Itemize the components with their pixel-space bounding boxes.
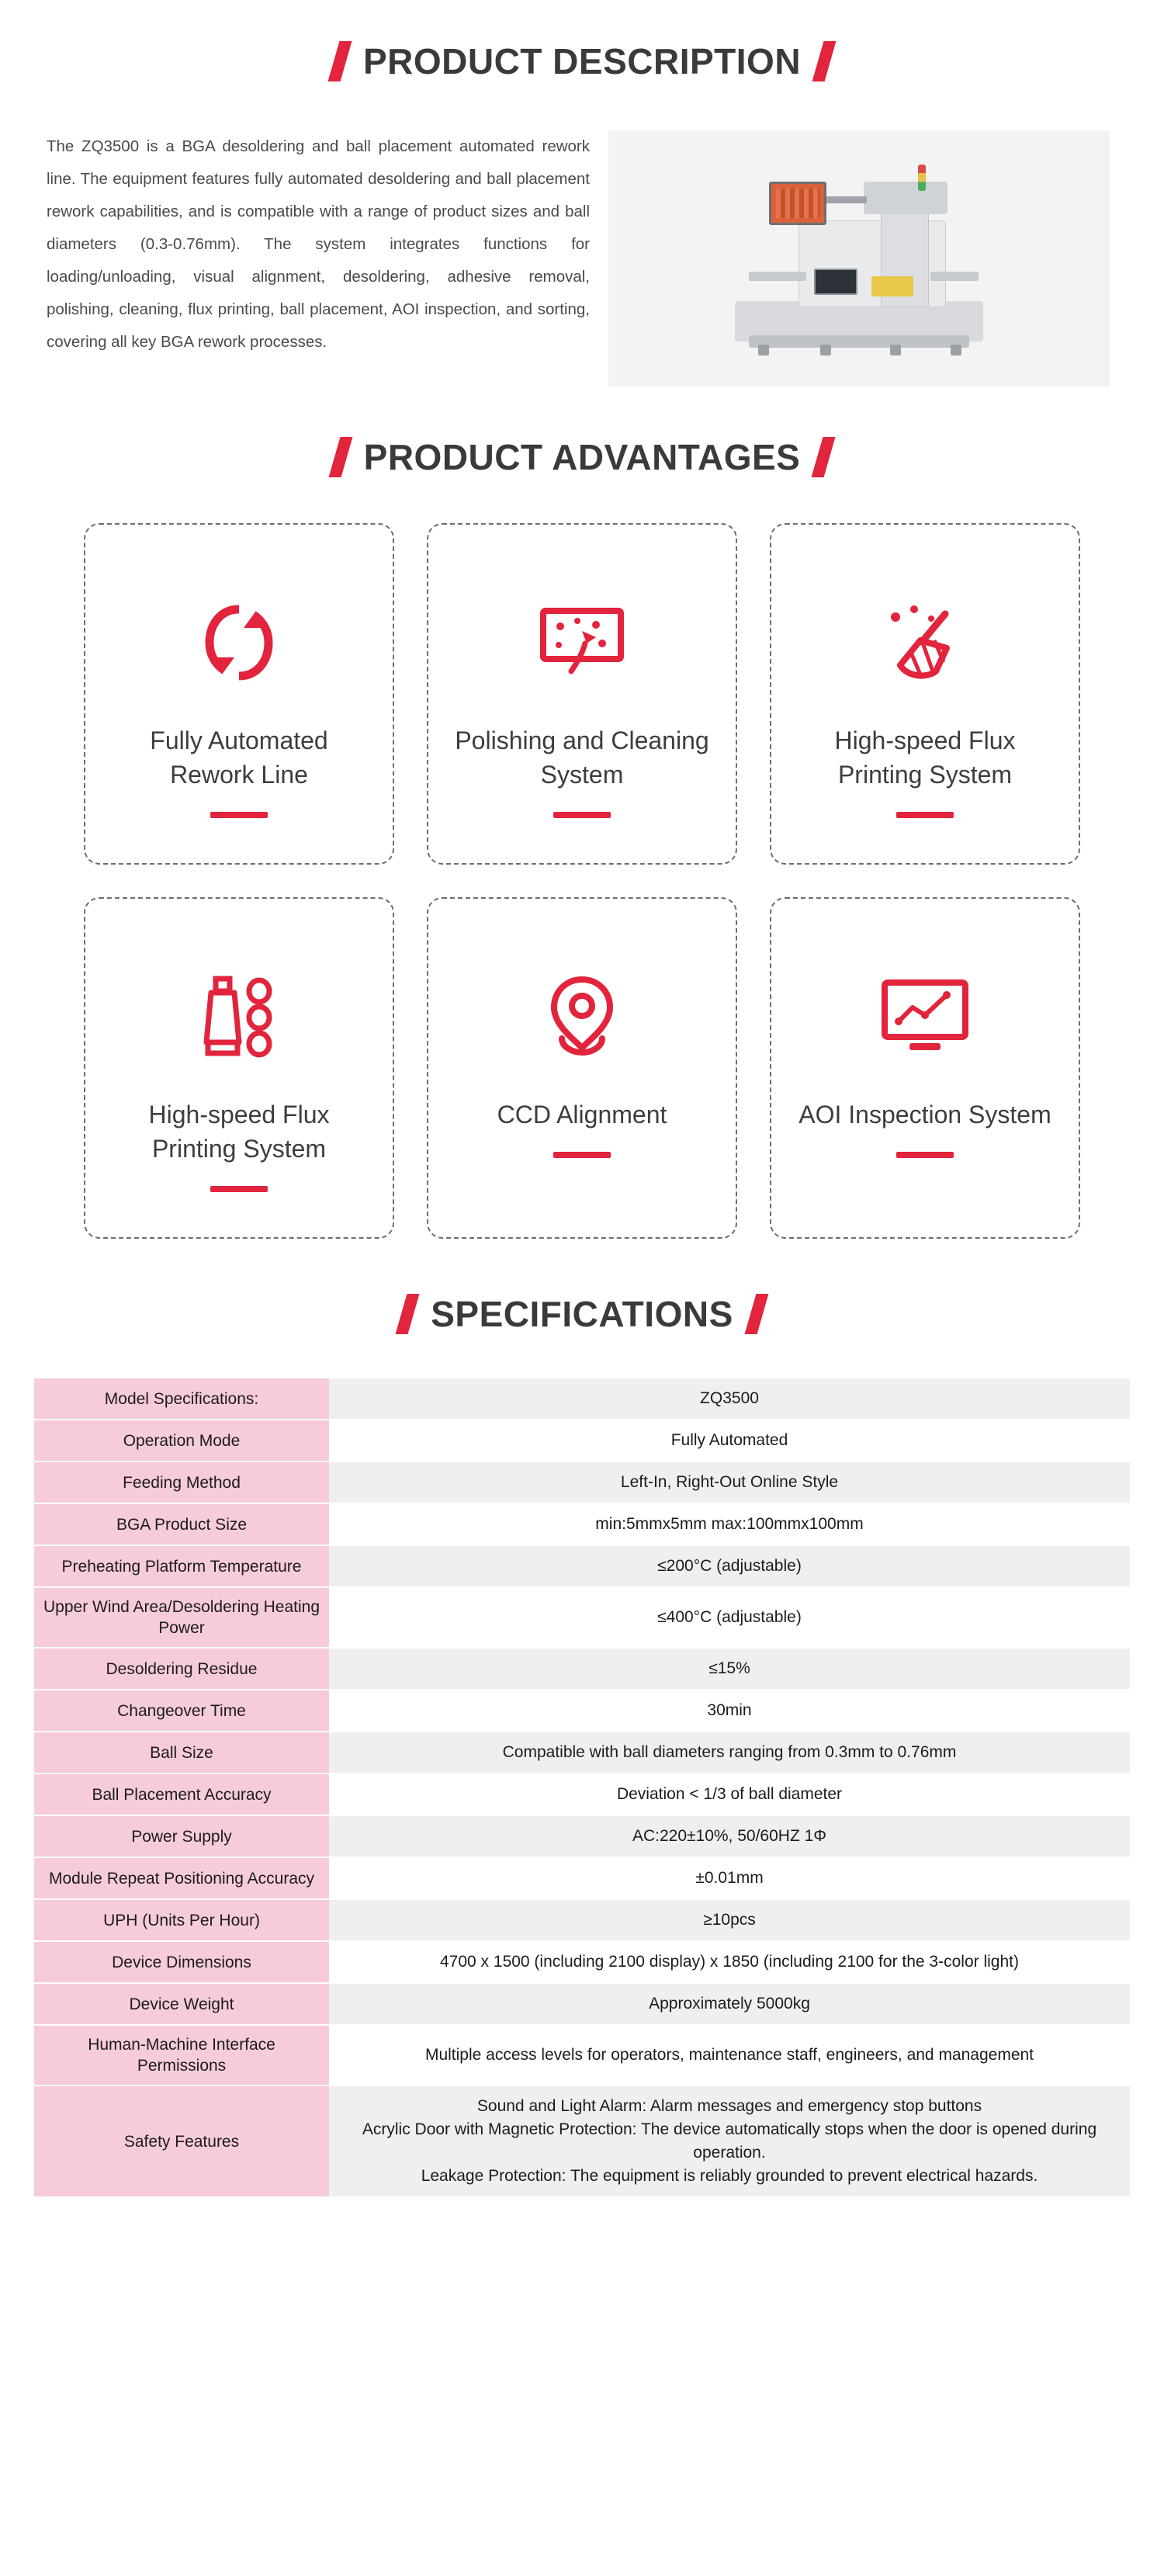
spec-value-cell: ≤15% bbox=[329, 1649, 1130, 1689]
advantage-card-title: High-speed Flux Printing System bbox=[111, 1097, 367, 1166]
flux-tube-icon bbox=[200, 970, 278, 1063]
table-row: Preheating Platform Temperature≤200°C (a… bbox=[34, 1546, 1130, 1586]
table-row: Device WeightApproximately 5000kg bbox=[34, 1984, 1130, 2024]
spec-value-cell: Deviation < 1/3 of ball diameter bbox=[329, 1774, 1130, 1815]
description-paragraph: The ZQ3500 is a BGA desoldering and ball… bbox=[47, 130, 590, 359]
spec-value-cell: Left-In, Right-Out Online Style bbox=[329, 1462, 1130, 1503]
table-row: UPH (Units Per Hour)≥10pcs bbox=[34, 1900, 1130, 1940]
advantage-card-rule bbox=[553, 1152, 611, 1158]
table-row: Model Specifications:ZQ3500 bbox=[34, 1378, 1130, 1419]
table-row: BGA Product Sizemin:5mmx5mm max:100mmx10… bbox=[34, 1504, 1130, 1545]
spec-label-cell: Operation Mode bbox=[34, 1420, 329, 1461]
monitor-chart-icon bbox=[878, 970, 972, 1063]
table-row: Human-Machine Interface PermissionsMulti… bbox=[34, 2026, 1130, 2085]
recycle-arrows-icon bbox=[199, 596, 279, 689]
section-heading-advantages: PRODUCT ADVANTAGES bbox=[0, 387, 1164, 478]
spec-value-cell: ZQ3500 bbox=[329, 1378, 1130, 1419]
advantage-card-title: Polishing and Cleaning System bbox=[454, 723, 710, 792]
spec-label-cell: Human-Machine Interface Permissions bbox=[34, 2026, 329, 2085]
advantage-card[interactable]: AOI Inspection System bbox=[770, 897, 1080, 1239]
spec-value-cell: Compatible with ball diameters ranging f… bbox=[329, 1732, 1130, 1773]
table-row: Operation ModeFully Automated bbox=[34, 1420, 1130, 1461]
advantage-card-rule bbox=[896, 1152, 954, 1158]
slash-accent-left-icon bbox=[396, 1294, 420, 1334]
advantage-card[interactable]: Polishing and Cleaning System bbox=[427, 523, 737, 865]
spec-value-cell: AC:220±10%, 50/60HZ 1Φ bbox=[329, 1816, 1130, 1857]
spec-label-cell: Ball Size bbox=[34, 1732, 329, 1773]
spec-label-cell: Safety Features bbox=[34, 2086, 329, 2196]
advantage-card-title: Fully Automated Rework Line bbox=[111, 723, 367, 792]
spec-label-cell: Preheating Platform Temperature bbox=[34, 1546, 329, 1586]
spec-label-cell: Ball Placement Accuracy bbox=[34, 1774, 329, 1815]
spec-value-cell: 30min bbox=[329, 1690, 1130, 1731]
spec-value-cell: 4700 x 1500 (including 2100 display) x 1… bbox=[329, 1942, 1130, 1982]
table-row: Safety FeaturesSound and Light Alarm: Al… bbox=[34, 2086, 1130, 2196]
table-row: Power SupplyAC:220±10%, 50/60HZ 1Φ bbox=[34, 1816, 1130, 1857]
machine-illustration bbox=[727, 161, 991, 355]
advantage-card-rule bbox=[553, 812, 611, 818]
slash-accent-right-icon bbox=[744, 1294, 768, 1334]
advantage-card-grid: Fully Automated Rework Line Polishing an… bbox=[0, 523, 1164, 1239]
spec-value-cell: ≤400°C (adjustable) bbox=[329, 1588, 1130, 1647]
advantage-card-rule bbox=[210, 812, 268, 818]
spec-value-cell: Multiple access levels for operators, ma… bbox=[329, 2026, 1130, 2085]
spec-label-cell: UPH (Units Per Hour) bbox=[34, 1900, 329, 1940]
specifications-table-body: Model Specifications:ZQ3500Operation Mod… bbox=[34, 1378, 1130, 2196]
spec-value-cell: ≤200°C (adjustable) bbox=[329, 1546, 1130, 1586]
spec-label-cell: Desoldering Residue bbox=[34, 1649, 329, 1689]
table-row: Changeover Time30min bbox=[34, 1690, 1130, 1731]
slash-accent-left-icon bbox=[328, 437, 352, 477]
spec-label-cell: Device Dimensions bbox=[34, 1942, 329, 1982]
spec-label-cell: Module Repeat Positioning Accuracy bbox=[34, 1858, 329, 1898]
spec-label-cell: Model Specifications: bbox=[34, 1378, 329, 1419]
spec-value-cell: Fully Automated bbox=[329, 1420, 1130, 1461]
advantage-card[interactable]: High-speed Flux Printing System bbox=[770, 523, 1080, 865]
advantage-card-rule bbox=[210, 1186, 268, 1192]
slash-accent-right-icon bbox=[812, 437, 836, 477]
table-row: Device Dimensions4700 x 1500 (including … bbox=[34, 1942, 1130, 1982]
advantage-card[interactable]: Fully Automated Rework Line bbox=[84, 523, 394, 865]
advantage-card-title: High-speed Flux Printing System bbox=[797, 723, 1053, 792]
spec-label-cell: Changeover Time bbox=[34, 1690, 329, 1731]
spec-label-cell: Feeding Method bbox=[34, 1462, 329, 1503]
table-row: Feeding MethodLeft-In, Right-Out Online … bbox=[34, 1462, 1130, 1503]
table-row: Upper Wind Area/Desoldering Heating Powe… bbox=[34, 1588, 1130, 1647]
product-page: PRODUCT DESCRIPTION The ZQ3500 is a BGA … bbox=[0, 0, 1164, 2198]
slash-accent-right-icon bbox=[812, 41, 837, 81]
page-title-description: PRODUCT DESCRIPTION bbox=[363, 40, 801, 82]
advantage-card[interactable]: CCD Alignment bbox=[427, 897, 737, 1239]
table-row: Ball Placement AccuracyDeviation < 1/3 o… bbox=[34, 1774, 1130, 1815]
spec-value-cell: Approximately 5000kg bbox=[329, 1984, 1130, 2024]
spec-label-cell: BGA Product Size bbox=[34, 1504, 329, 1545]
spec-value-cell: ±0.01mm bbox=[329, 1858, 1130, 1898]
section-heading-specifications: SPECIFICATIONS bbox=[0, 1239, 1164, 1335]
spec-value-cell: min:5mmx5mm max:100mmx100mm bbox=[329, 1504, 1130, 1545]
location-pin-icon bbox=[542, 970, 622, 1063]
broom-icon bbox=[880, 596, 970, 689]
spec-label-cell: Device Weight bbox=[34, 1984, 329, 2024]
advantage-card-title: CCD Alignment bbox=[497, 1097, 667, 1132]
description-block: The ZQ3500 is a BGA desoldering and ball… bbox=[0, 130, 1164, 387]
advantage-card-rule bbox=[896, 812, 954, 818]
table-row: Ball SizeCompatible with ball diameters … bbox=[34, 1732, 1130, 1773]
advantage-card[interactable]: High-speed Flux Printing System bbox=[84, 897, 394, 1239]
table-row: Module Repeat Positioning Accuracy±0.01m… bbox=[34, 1858, 1130, 1898]
section-heading-description: PRODUCT DESCRIPTION bbox=[0, 0, 1164, 82]
product-photo bbox=[608, 130, 1110, 387]
page-title-specifications: SPECIFICATIONS bbox=[431, 1293, 733, 1335]
table-row: Desoldering Residue≤15% bbox=[34, 1649, 1130, 1689]
spec-value-cell: ≥10pcs bbox=[329, 1900, 1130, 1940]
spec-label-cell: Upper Wind Area/Desoldering Heating Powe… bbox=[34, 1588, 329, 1647]
spec-label-cell: Power Supply bbox=[34, 1816, 329, 1857]
page-title-advantages: PRODUCT ADVANTAGES bbox=[364, 436, 801, 478]
advantage-card-title: AOI Inspection System bbox=[799, 1097, 1051, 1132]
slash-accent-left-icon bbox=[327, 41, 352, 81]
polishing-cleaning-icon bbox=[537, 596, 627, 689]
specifications-table: Model Specifications:ZQ3500Operation Mod… bbox=[34, 1377, 1130, 2198]
spec-value-cell: Sound and Light Alarm: Alarm messages an… bbox=[329, 2086, 1130, 2196]
